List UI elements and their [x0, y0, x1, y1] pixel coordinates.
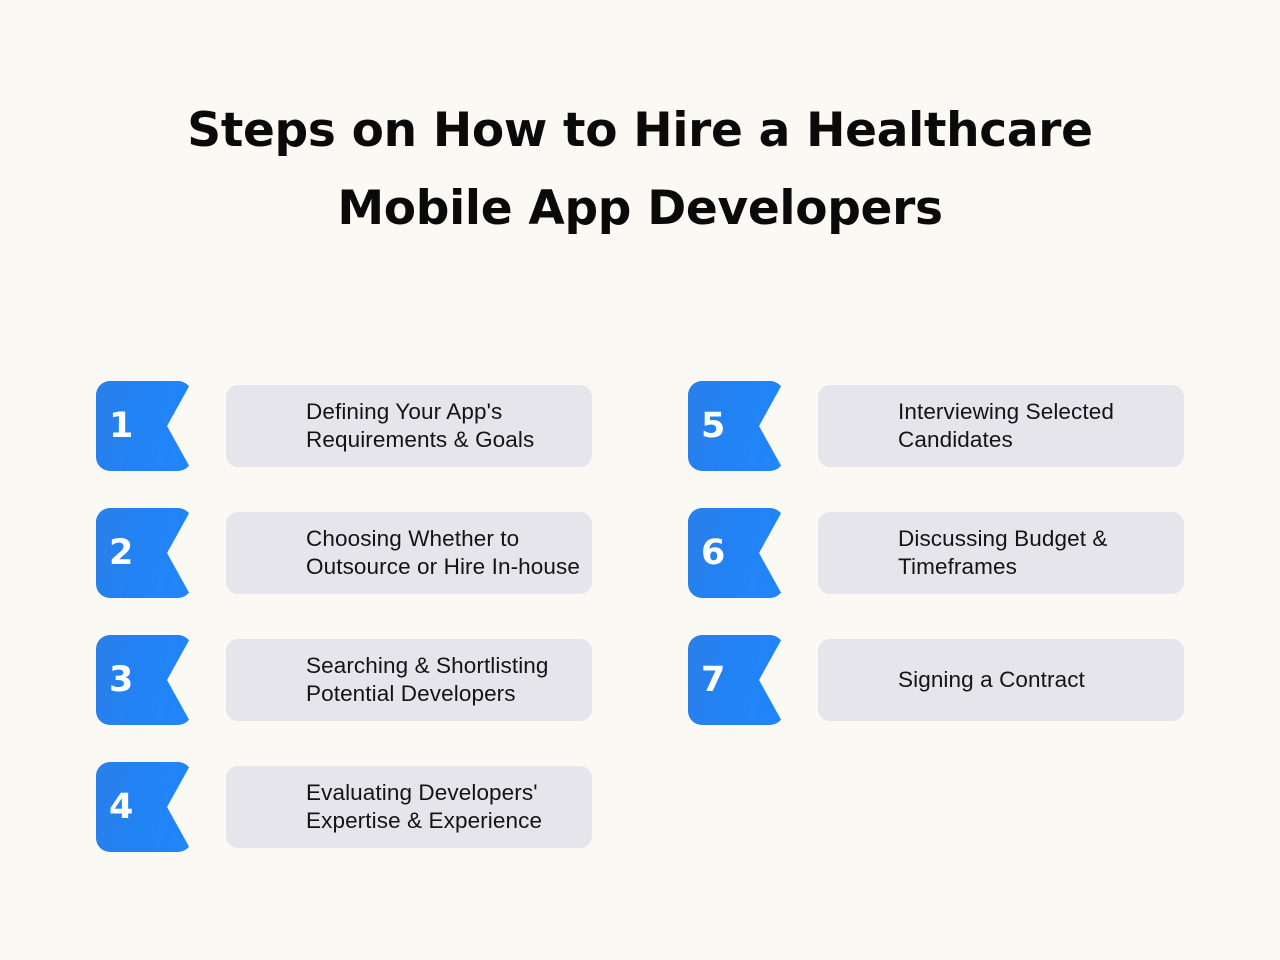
step-text-6: Discussing Budget & Timeframes — [898, 508, 1168, 598]
infographic-root: Steps on How to Hire a Healthcare Mobile… — [0, 0, 1280, 960]
step-text-7: Signing a Contract — [898, 635, 1168, 725]
step-text-1-line-2: Requirements & Goals — [306, 426, 576, 455]
step-item-1: 1 Defining Your App's Requirements & Goa… — [96, 381, 592, 471]
step-text-6-line-2: Timeframes — [898, 553, 1168, 582]
page-title: Steps on How to Hire a Healthcare Mobile… — [0, 92, 1280, 248]
step-text-6-line-1: Discussing Budget & — [898, 525, 1168, 554]
step-text-7-line-1: Signing a Contract — [898, 666, 1168, 695]
step-text-2: Choosing Whether to Outsource or Hire In… — [306, 508, 576, 598]
step-item-5: 5 Interviewing Selected Candidates — [688, 381, 1184, 471]
step-number-2: 2 — [109, 508, 133, 598]
step-text-4: Evaluating Developers' Expertise & Exper… — [306, 762, 576, 852]
step-text-3-line-1: Searching & Shortlisting — [306, 652, 576, 681]
step-text-3: Searching & Shortlisting Potential Devel… — [306, 635, 576, 725]
step-text-2-line-2: Outsource or Hire In-house — [306, 553, 576, 582]
page-title-line-2: Mobile App Developers — [0, 170, 1280, 248]
step-text-4-line-2: Expertise & Experience — [306, 807, 576, 836]
page-title-line-1: Steps on How to Hire a Healthcare — [0, 92, 1280, 170]
step-item-2: 2 Choosing Whether to Outsource or Hire … — [96, 508, 592, 598]
step-text-4-line-1: Evaluating Developers' — [306, 779, 576, 808]
step-number-7: 7 — [701, 635, 725, 725]
step-number-6: 6 — [701, 508, 725, 598]
steps-list: 1 Defining Your App's Requirements & Goa… — [96, 381, 1186, 852]
step-text-1: Defining Your App's Requirements & Goals — [306, 381, 576, 471]
step-item-7: 7 Signing a Contract — [688, 635, 1184, 725]
step-text-2-line-1: Choosing Whether to — [306, 525, 576, 554]
step-item-4: 4 Evaluating Developers' Expertise & Exp… — [96, 762, 592, 852]
step-number-4: 4 — [109, 762, 133, 852]
step-text-5: Interviewing Selected Candidates — [898, 381, 1168, 471]
step-text-1-line-1: Defining Your App's — [306, 398, 576, 427]
step-text-5-line-1: Interviewing Selected — [898, 398, 1168, 427]
step-number-1: 1 — [109, 381, 133, 471]
step-number-5: 5 — [701, 381, 725, 471]
step-item-3: 3 Searching & Shortlisting Potential Dev… — [96, 635, 592, 725]
step-item-6: 6 Discussing Budget & Timeframes — [688, 508, 1184, 598]
step-text-5-line-2: Candidates — [898, 426, 1168, 455]
step-text-3-line-2: Potential Developers — [306, 680, 576, 709]
step-number-3: 3 — [109, 635, 133, 725]
